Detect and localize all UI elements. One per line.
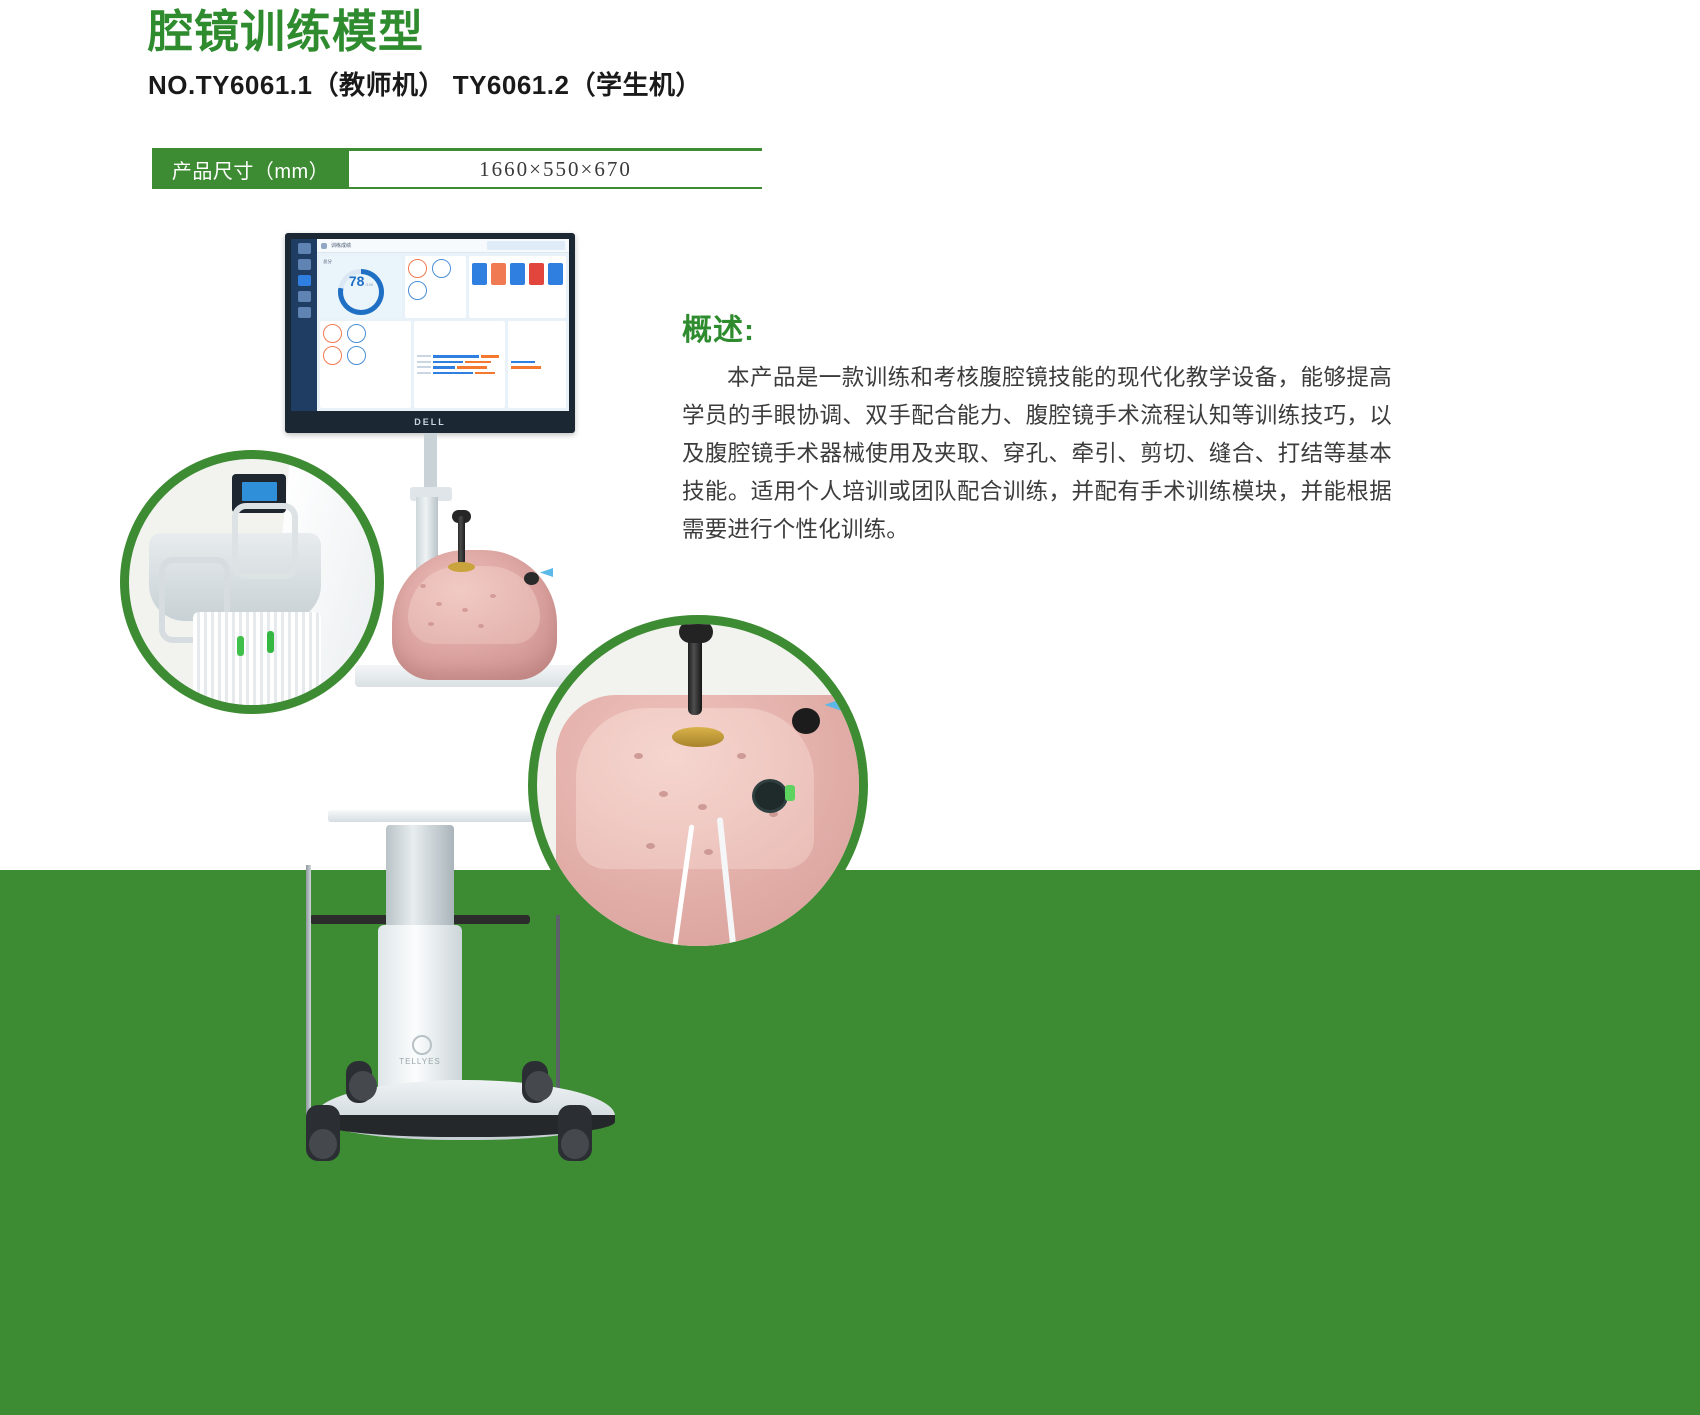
port-hole <box>490 594 496 598</box>
metric-dials-second <box>408 281 463 300</box>
inset-instrument-tray <box>120 450 384 714</box>
tile-icon <box>510 263 525 285</box>
camera-port <box>752 779 788 813</box>
bar-row <box>417 361 502 364</box>
green-indicator <box>237 636 244 656</box>
page-title: 腔镜训练模型 <box>148 8 1148 57</box>
mesh-basket <box>193 612 321 714</box>
accessory-pole-left <box>306 865 311 1115</box>
cart-side-arm-right <box>450 915 530 924</box>
panel-left-dials2 <box>323 346 408 365</box>
screen-row-bottom <box>317 321 569 411</box>
dial-icon <box>347 346 366 365</box>
monitor-bottom-bezel: DELL <box>291 413 569 431</box>
screen-user-badge <box>487 241 565 250</box>
bar-label <box>417 355 431 357</box>
bar-blue <box>433 366 455 369</box>
dell-logo: DELL <box>414 417 446 427</box>
screen-row-top: 总分 78 /100 <box>317 253 569 321</box>
cart-cabinet <box>378 925 462 1105</box>
bar-row <box>417 366 502 369</box>
port-hole <box>478 624 484 628</box>
bar-chart-panel-right <box>508 321 566 408</box>
metric-tiles <box>472 259 563 285</box>
bar-orange <box>475 372 495 375</box>
bar-label <box>417 361 431 363</box>
model-number: NO.TY6061.1（教师机） TY6061.2（学生机） <box>148 65 1148 102</box>
caster-wheel <box>346 1061 372 1103</box>
dial-icon <box>323 346 342 365</box>
screen-main: 训练成绩 总分 78 /100 <box>317 239 569 411</box>
screen-sidebar <box>291 239 317 411</box>
tile-icon <box>548 263 563 285</box>
monitor: 训练成绩 总分 78 /100 <box>285 233 575 433</box>
bar-row <box>417 372 502 375</box>
valve-tip-icon <box>540 568 553 577</box>
spec-rule-bottom <box>152 187 762 189</box>
page-header: 腔镜训练模型 NO.TY6061.1（教师机） TY6061.2（学生机） <box>148 8 1148 102</box>
monitor-arm <box>424 433 437 493</box>
score-unit: /100 <box>365 282 373 287</box>
caster-wheel <box>522 1061 548 1103</box>
spec-label-dimensions: 产品尺寸（mm） <box>152 151 349 187</box>
scanner-screen <box>242 482 277 501</box>
tile-icon <box>472 263 487 285</box>
bar-row <box>511 366 563 369</box>
port-hole <box>462 608 468 612</box>
bar-row <box>511 361 563 364</box>
activity-icon <box>298 259 311 270</box>
bar-label <box>417 366 431 368</box>
screen-breadcrumb: 训练成绩 <box>331 242 351 249</box>
spec-value-dimensions: 1660×550×670 <box>349 151 762 187</box>
port-hole <box>634 753 643 759</box>
settings-icon <box>298 307 311 318</box>
score-value: 78 <box>349 274 365 288</box>
dial-icon <box>408 259 427 278</box>
score-gauge: 78 /100 <box>338 269 384 315</box>
panel-left-dials <box>323 324 408 343</box>
specification-table: 产品尺寸（mm） 1660×550×670 <box>152 148 762 189</box>
cart-brand-logo: TELLYES <box>378 1057 462 1066</box>
valve-port <box>792 708 820 734</box>
score-gauge-inner: 78 /100 <box>343 274 379 310</box>
inset-trocar-detail <box>528 615 868 955</box>
bar-row <box>417 355 502 358</box>
bar-orange <box>457 366 487 369</box>
port-hole <box>737 753 746 759</box>
product-photo: 训练成绩 总分 78 /100 <box>110 225 1030 1355</box>
dial-icon <box>323 324 342 343</box>
score-card-label: 总分 <box>323 259 399 265</box>
bar-blue <box>511 361 535 364</box>
trocar-gold-ring <box>448 562 475 572</box>
port-hole <box>436 602 442 606</box>
bar-orange <box>481 355 499 358</box>
bar-label <box>417 372 431 374</box>
home-icon <box>298 243 311 254</box>
valve-port <box>524 572 539 585</box>
back-arrow-icon <box>321 243 327 249</box>
screen-topbar: 训练成绩 <box>317 239 569 253</box>
tile-icon <box>529 263 544 285</box>
caster-wheel <box>306 1105 340 1161</box>
dial-icon <box>408 281 427 300</box>
bar-blue <box>433 355 479 358</box>
caster-wheel <box>558 1105 592 1161</box>
tile-icon <box>491 263 506 285</box>
torso-skin-pad <box>408 566 540 644</box>
spec-row-dimensions: 产品尺寸（mm） 1660×550×670 <box>152 151 762 187</box>
tray-cutout-2 <box>232 503 298 579</box>
panel-left <box>320 321 411 408</box>
abdominal-torso-model <box>392 550 557 680</box>
cart-power-button[interactable] <box>412 1035 432 1055</box>
port-hole <box>420 584 426 588</box>
metric-dials <box>408 259 463 278</box>
bar-orange <box>511 366 541 369</box>
tiles-card <box>469 256 566 318</box>
bar-blue <box>433 361 463 364</box>
results-icon <box>298 275 311 286</box>
green-indicator <box>785 785 795 801</box>
dial-icon <box>432 259 451 278</box>
bar-chart-panel <box>414 321 505 408</box>
trocar-knob <box>679 621 713 643</box>
trocar-gold-ring <box>672 727 724 747</box>
metrics-card <box>405 256 466 318</box>
bar-orange <box>465 361 491 364</box>
dial-icon <box>347 324 366 343</box>
bar-blue <box>433 372 473 375</box>
trocar-shaft <box>688 637 702 715</box>
port-hole <box>428 622 434 626</box>
monitor-screen: 训练成绩 总分 78 /100 <box>291 239 569 411</box>
green-indicator-2 <box>267 631 274 653</box>
trocar-shaft <box>458 516 465 564</box>
accessory-pole-right <box>556 915 560 1105</box>
cart-side-arm-left <box>310 915 390 924</box>
score-card: 总分 78 /100 <box>320 256 402 318</box>
report-icon <box>298 291 311 302</box>
